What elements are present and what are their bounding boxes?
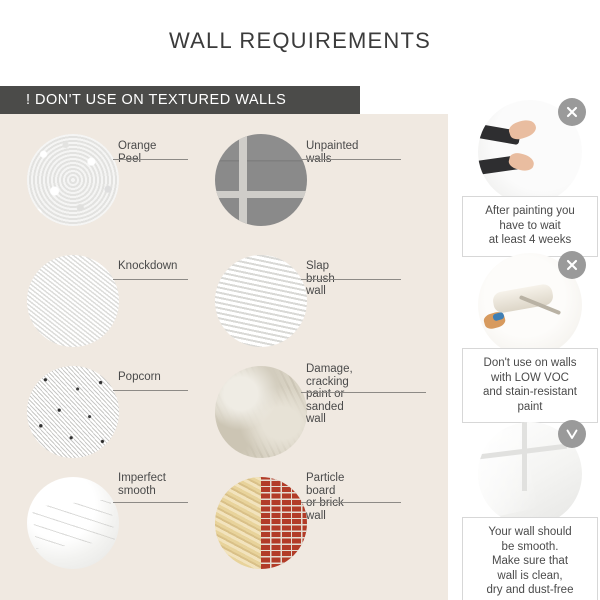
tip-card-smooth-clean-wall: Your wall should be smooth. Make sure th… bbox=[462, 422, 598, 600]
texture-label-rule bbox=[113, 159, 188, 160]
texture-label-rule bbox=[301, 279, 401, 280]
tip-card-low-voc-paint: Don't use on walls with LOW VOC and stai… bbox=[462, 253, 598, 423]
warning-banner: ! DON'T USE ON TEXTURED WALLS bbox=[0, 86, 360, 114]
texture-label: Imperfect smooth bbox=[118, 472, 166, 497]
tip-text: Don't use on walls with LOW VOC and stai… bbox=[462, 348, 598, 423]
tip-text: After painting you have to wait at least… bbox=[462, 196, 598, 257]
texture-label-rule bbox=[301, 392, 426, 393]
texture-label: Orange Peel bbox=[118, 140, 156, 165]
texture-label: Damage, cracking paint or sanded wall bbox=[306, 363, 353, 426]
texture-label-rule bbox=[113, 390, 188, 391]
paint-roller-photo bbox=[478, 253, 582, 357]
texture-label-rule bbox=[113, 502, 188, 503]
smooth-wall-window-photo bbox=[478, 422, 582, 526]
texture-label-rule bbox=[301, 502, 401, 503]
knockdown-texture-swatch bbox=[27, 255, 119, 347]
particle-board-brick-swatch bbox=[215, 477, 307, 569]
tip-text: Your wall should be smooth. Make sure th… bbox=[462, 517, 598, 600]
texture-item-particle-board-brick: Particle board or brick wall bbox=[0, 114, 92, 206]
imperfect-smooth-swatch bbox=[27, 477, 119, 569]
slap-brush-texture-swatch bbox=[215, 255, 307, 347]
texture-label: Unpainted walls bbox=[306, 140, 358, 165]
tip-card-wait-4-weeks: After painting you have to wait at least… bbox=[462, 100, 598, 257]
texture-label: Popcorn bbox=[118, 371, 161, 384]
texture-label: Particle board or brick wall bbox=[306, 472, 344, 522]
cross-icon bbox=[558, 98, 586, 126]
page-title: WALL REQUIREMENTS bbox=[0, 28, 600, 54]
warning-banner-label: ! DON'T USE ON TEXTURED WALLS bbox=[0, 92, 286, 108]
unpainted-wall-swatch bbox=[215, 134, 307, 226]
texture-label-rule bbox=[113, 279, 188, 280]
textured-walls-panel: Orange Peel Unpainted walls Knockdown Sl… bbox=[0, 114, 448, 600]
cross-icon bbox=[558, 251, 586, 279]
damaged-wall-swatch bbox=[215, 366, 307, 458]
check-icon bbox=[558, 420, 586, 448]
texture-label-rule bbox=[301, 159, 401, 160]
infographic-page: WALL REQUIREMENTS ! DON'T USE ON TEXTURE… bbox=[0, 0, 600, 600]
hands-on-wall-photo bbox=[478, 100, 582, 204]
popcorn-texture-swatch bbox=[27, 366, 119, 458]
texture-label: Knockdown bbox=[118, 260, 177, 273]
